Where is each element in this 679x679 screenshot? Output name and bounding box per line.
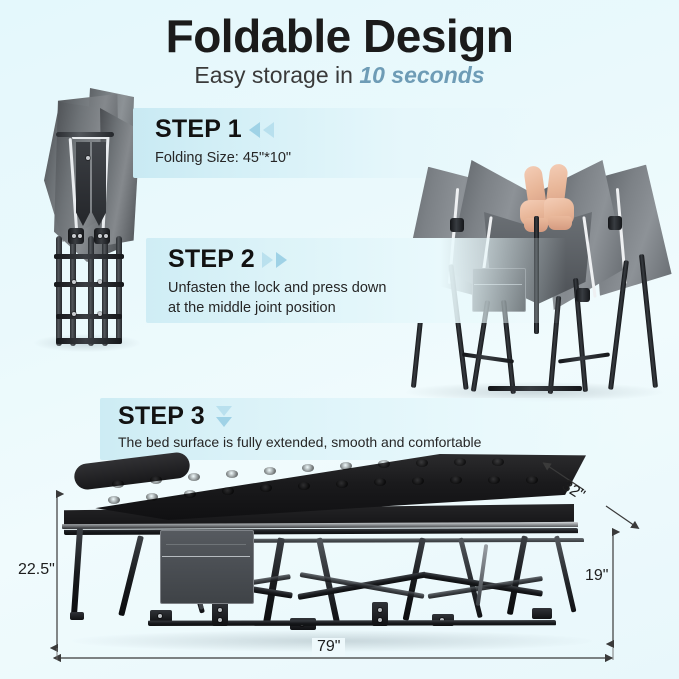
- witness-lines: [0, 0, 679, 679]
- infographic-page: Foldable Design Easy storage in 10 secon…: [0, 0, 679, 679]
